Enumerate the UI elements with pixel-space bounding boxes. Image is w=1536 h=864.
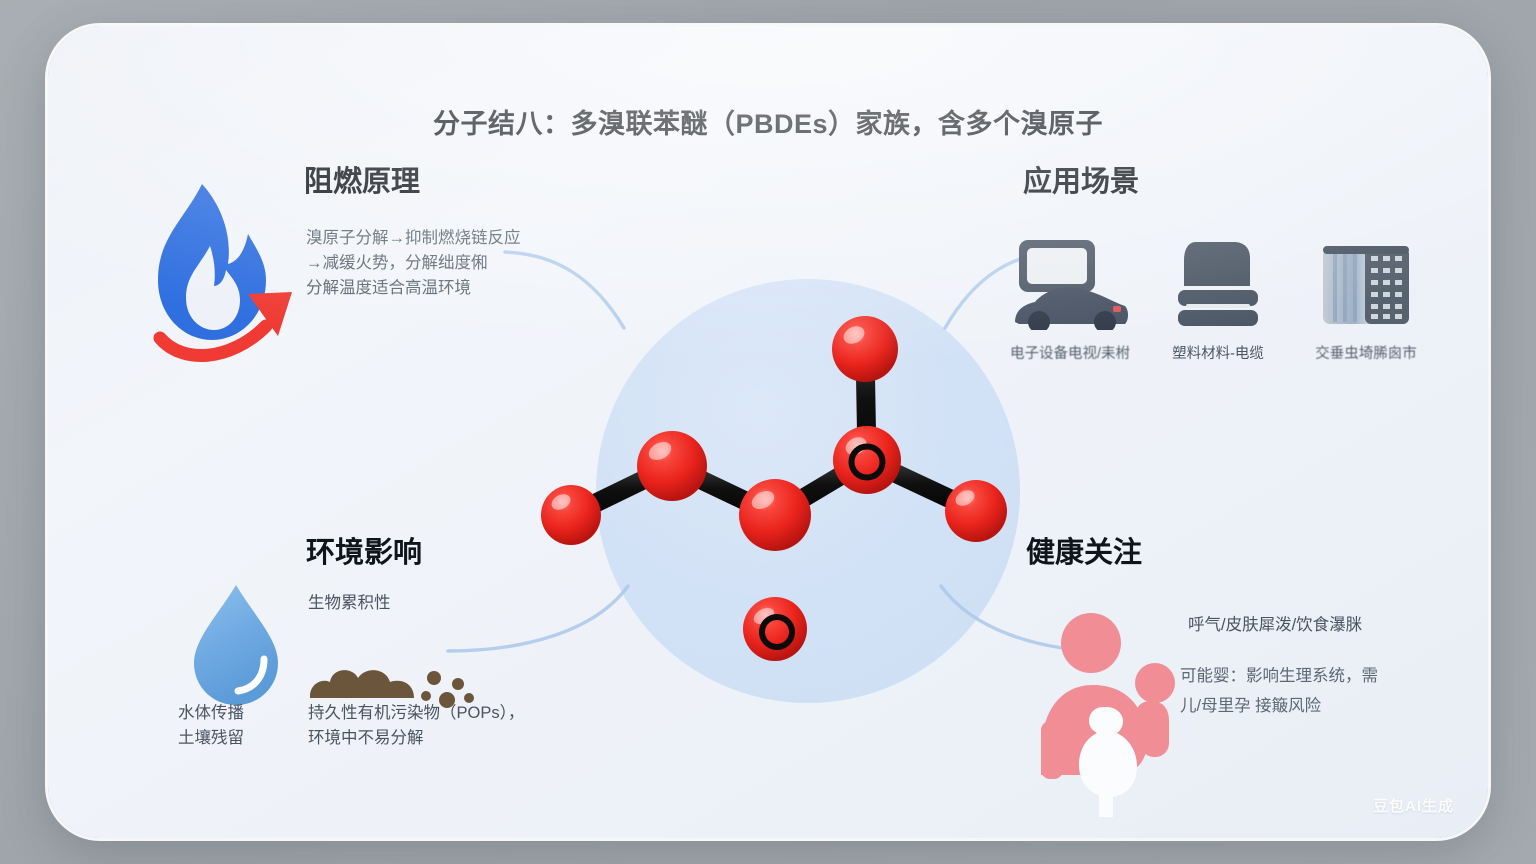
- application-item-textiles: 交垂虫埼脪囪市: [1299, 238, 1433, 363]
- atom-a6: [945, 480, 1007, 542]
- watermark: 豆包AI生成: [1373, 795, 1454, 816]
- flame-with-arrow-icon: [158, 184, 292, 356]
- health-risk-line-1: 可能婴：影响生理系统，需: [1180, 664, 1378, 689]
- environment-lead-text: 生物累积性: [308, 591, 391, 616]
- car-seat-icon: [1172, 238, 1264, 330]
- curtain-facade-icon: [1317, 238, 1415, 330]
- monitor-and-car-icon: [1009, 238, 1131, 330]
- parent-and-child-icon: [1041, 613, 1175, 817]
- section-heading-applications: 应用场景: [1023, 158, 1139, 200]
- application-item-electronics: 电子设备电视/耒柎: [1003, 238, 1137, 363]
- health-risk-line-2: 儿/母里孕 接簸风险: [1180, 694, 1321, 719]
- application-label-plastics: 塑料材料-电缆: [1172, 342, 1264, 363]
- atom-a7-labeled-o: [743, 597, 807, 661]
- connector-line-bottom-left: [448, 586, 628, 651]
- infographic-card: 分子结八：多溴联苯醚（PBDEs）家族，含多个溴原子: [48, 26, 1488, 838]
- application-icons-row: 电子设备电视/耒柎 塑料材料-电缆: [1003, 238, 1433, 363]
- water-drop-icon: [194, 585, 278, 705]
- application-label-electronics: 电子设备电视/耒柎: [1010, 342, 1130, 363]
- atom-a5: [832, 316, 898, 382]
- flame-principle-body: 溴原子分解→抑制燃烧链反应 →减缓火势，分解绌度俰 分解温度适合高温环境: [306, 226, 606, 301]
- water-drop-caption: 水体传播 土壤残留: [136, 701, 286, 751]
- environment-body-text: 持久性有机污染物（POPs）， 环境中不易分解: [308, 701, 608, 751]
- section-heading-health: 健康关注: [1026, 529, 1142, 571]
- atom-a3: [739, 479, 811, 551]
- application-label-textiles: 交垂虫埼脪囪市: [1315, 342, 1417, 363]
- atom-a1: [541, 485, 601, 545]
- atom-a2: [637, 431, 707, 501]
- atom-a4-labeled-o: [833, 426, 901, 494]
- health-exposure-routes: 呼气/皮肤犀泼/饮食瀑脒: [1188, 613, 1362, 638]
- section-heading-environment: 环境影响: [306, 529, 422, 571]
- section-heading-flame-principle: 阻燃原理: [304, 158, 420, 200]
- application-item-plastics: 塑料材料-电缆: [1151, 238, 1285, 363]
